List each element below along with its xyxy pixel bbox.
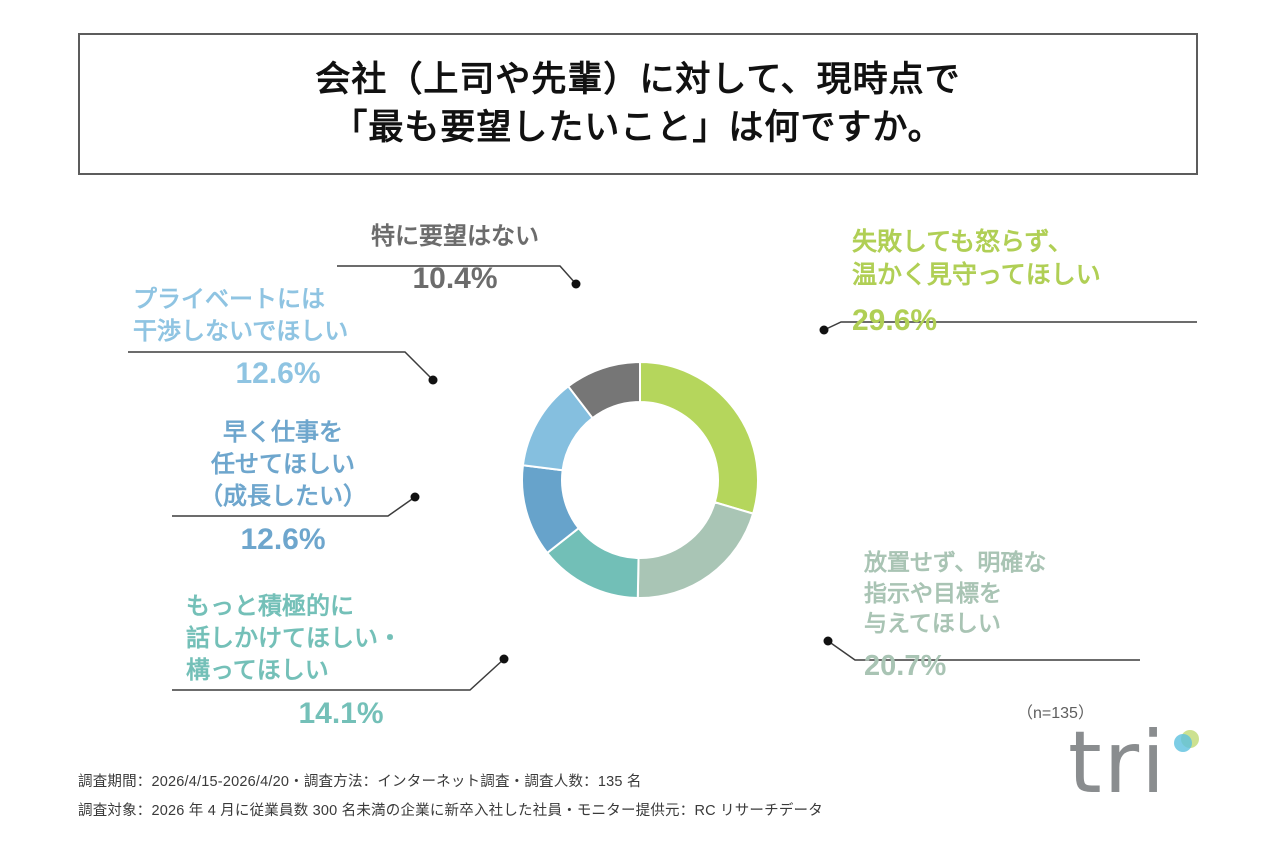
chart-page: 会社（上司や先輩）に対して、現時点で 「最も要望したいこと」は何ですか。 [0,0,1280,853]
brand-logo-text: tri [1068,720,1167,806]
leader-dot-lightblue [429,376,438,385]
chart-title-line-2: 「最も要望したいこと」は何ですか。 [332,104,943,152]
callout-sage: 放置せず、明確な 指示や目標を 与えてほしい 20.7% [864,547,1194,683]
callout-teal: もっと積極的に 話しかけてほしい・ 構ってほしい 14.1% [186,591,496,731]
donut-slice-2 [547,528,638,598]
callout-value-teal: 14.1% [186,697,496,731]
footnote-survey-period: 調査期間：2026/4/15-2026/4/20・調査方法：インターネット調査・… [78,770,642,791]
donut-slice-4 [523,386,593,470]
brand-logo: tri [1068,726,1208,818]
donut-slice-5 [568,362,640,418]
leader-dot-blue [411,493,420,502]
callout-value-light-blue: 12.6% [133,357,423,391]
callout-green: 失敗しても怒らず、 温かく見守ってほしい 29.6% [852,226,1212,338]
footnote-survey-target: 調査対象：2026 年 4 月に従業員数 300 名未満の企業に新卒入社した社員… [78,799,823,820]
callout-label-teal: もっと積極的に 話しかけてほしい・ 構ってほしい [186,591,496,687]
chart-title-line-1: 会社（上司や先輩）に対して、現時点で [315,56,960,104]
callout-value-sage: 20.7% [864,650,1194,683]
callout-light-blue: プライベートには 干渉しないでほしい 12.6% [133,284,423,391]
callout-label-green: 失敗しても怒らず、 温かく見守ってほしい [852,226,1212,293]
donut-slice-3 [522,465,579,553]
callout-value-green: 29.6% [852,304,1212,338]
callout-value-blue: 12.6% [183,523,383,557]
callout-label-light-blue: プライベートには 干渉しないでほしい [133,284,423,348]
leader-dot-green [820,326,829,335]
callout-blue: 早く仕事を 任せてほしい （成長したい） 12.6% [183,417,383,557]
chart-title-box: 会社（上司や先輩）に対して、現時点で 「最も要望したいこと」は何ですか。 [78,33,1198,175]
callout-label-blue: 早く仕事を 任せてほしい （成長したい） [183,417,383,513]
callout-label-gray: 特に要望はない [340,221,570,253]
donut-segments [522,362,758,598]
donut-slice-1 [638,502,753,598]
callout-label-sage: 放置せず、明確な 指示や目標を 与えてほしい [864,547,1194,639]
donut-slice-0 [640,362,758,514]
leader-dot-sage [824,637,833,646]
leader-dot-gray [572,280,581,289]
leader-dot-teal [500,655,509,664]
logo-dot-icon [1169,726,1209,766]
